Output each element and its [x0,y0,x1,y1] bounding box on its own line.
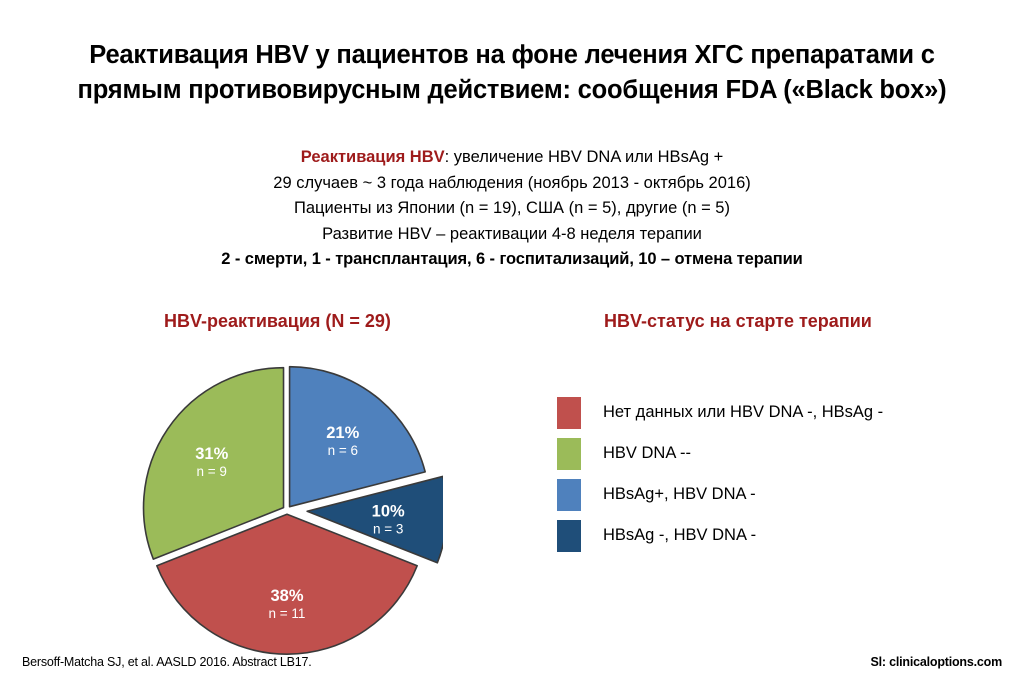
pie-slice-label: 10%n = 3 [372,502,405,536]
page-title: Реактивация HBV у пациентов на фоне лече… [55,38,969,108]
legend-color-swatch [557,479,581,511]
fact-line-2: 29 случаев ~ 3 года наблюдения (ноябрь 2… [92,171,932,197]
legend-color-swatch [557,438,581,470]
legend-item-label: Нет данных или HBV DNA -, HBsAg - [603,403,883,422]
pie-chart: 21%n = 610%n = 338%n = 1131%n = 9 [133,358,443,658]
pie-slice-count: n = 6 [328,443,358,458]
page-title-line-2: прямым противовирусным действием: сообще… [55,73,969,108]
summary-facts: Реактивация HBV: увеличение HBV DNA или … [92,145,932,273]
page-title-line-1: Реактивация HBV у пациентов на фоне лече… [55,38,969,73]
pie-chart-svg: 21%n = 610%n = 338%n = 1131%n = 9 [133,358,443,658]
fact-line-1: Реактивация HBV: увеличение HBV DNA или … [92,145,932,171]
legend-item-label: HBsAg -, HBV DNA - [603,526,756,545]
fact-line-1-rest: : увеличение HBV DNA или HBsAg + [445,148,724,166]
legend-color-swatch [557,397,581,429]
pie-slice-label: 38%n = 11 [269,587,306,621]
fact-line-3: Пациенты из Японии (n = 19), США (n = 5)… [92,196,932,222]
legend-item[interactable]: HBsAg+, HBV DNA - [557,474,977,515]
pie-slice-percent: 21% [326,424,359,442]
slide-root: { "title": { "line1": "Реактивация HBV у… [0,0,1024,683]
chart-legend: Нет данных или HBV DNA -, HBsAg -HBV DNA… [557,392,977,556]
fact-line-4: Развитие HBV – реактивации 4-8 неделя те… [92,222,932,248]
fact-line-1-accent: Реактивация HBV [301,148,445,166]
legend-item-label: HBsAg+, HBV DNA - [603,485,756,504]
legend-item-label: HBV DNA -- [603,444,691,463]
site-credit: Sl: clinicaloptions.com [870,655,1002,669]
legend-item[interactable]: Нет данных или HBV DNA -, HBsAg - [557,392,977,433]
legend-item[interactable]: HBsAg -, HBV DNA - [557,515,977,556]
legend-item[interactable]: HBV DNA -- [557,433,977,474]
fact-line-5: 2 - смерти, 1 - трансплантация, 6 - госп… [92,247,932,273]
chart-heading: HBV-реактивация (N = 29) [164,311,391,332]
pie-slice-label: 21%n = 6 [326,424,359,458]
pie-slice-count: n = 9 [197,464,227,479]
pie-slice-percent: 38% [270,587,303,605]
pie-slice-percent: 10% [372,502,405,520]
pie-slice-percent: 31% [195,445,228,463]
legend-heading: HBV-статус на старте терапии [604,311,872,332]
pie-slice-count: n = 3 [373,521,403,536]
pie-slice-count: n = 11 [269,606,306,621]
legend-color-swatch [557,520,581,552]
pie-slice-label: 31%n = 9 [195,445,228,479]
source-citation: Bersoff-Matcha SJ, et al. AASLD 2016. Ab… [22,655,312,669]
